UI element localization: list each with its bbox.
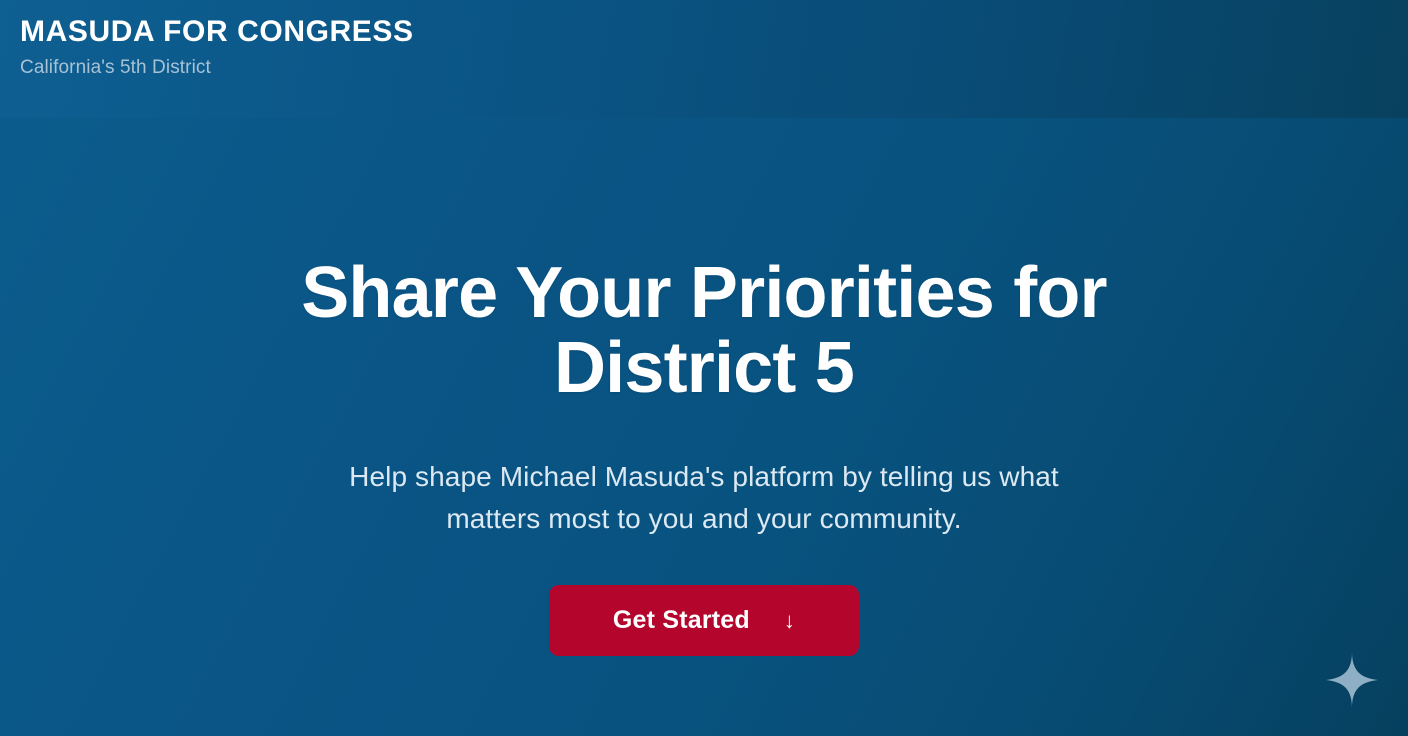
get-started-label: Get Started xyxy=(613,606,750,635)
hero-subtitle: Help shape Michael Masuda's platform by … xyxy=(204,456,1204,541)
hero-content: Share Your Priorities for District 5 Hel… xyxy=(204,118,1204,656)
sparkle-icon xyxy=(1326,652,1378,708)
hero-section: Share Your Priorities for District 5 Hel… xyxy=(0,118,1408,736)
page-title: Share Your Priorities for District 5 xyxy=(204,256,1204,406)
landing-page: MASUDA FOR CONGRESS California's 5th Dis… xyxy=(0,0,1408,736)
brand-subtitle: California's 5th District xyxy=(20,56,1408,81)
brand-title: MASUDA FOR CONGRESS xyxy=(20,14,1408,49)
site-header: MASUDA FOR CONGRESS California's 5th Dis… xyxy=(0,0,1408,118)
cta-container: Get Started ↓ xyxy=(204,585,1204,656)
get-started-button[interactable]: Get Started ↓ xyxy=(549,585,859,656)
arrow-down-icon: ↓ xyxy=(784,610,795,632)
